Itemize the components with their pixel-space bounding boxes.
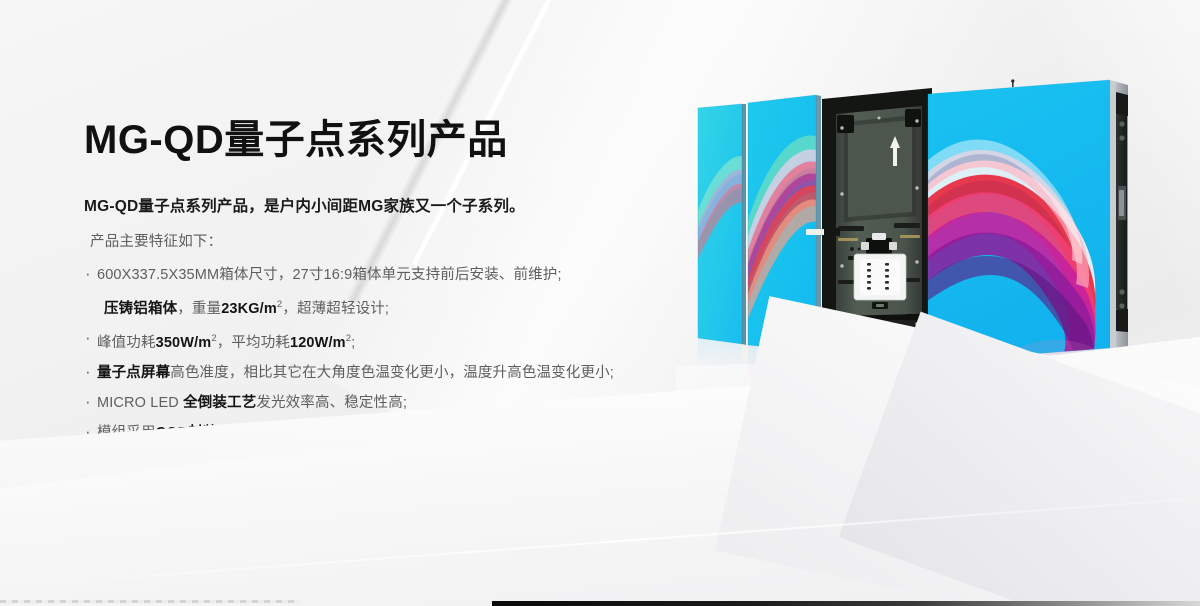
table-row: MG0093-QD0.93640x360 — [739, 450, 1024, 480]
features-lead: 产品主要特征如下： — [90, 230, 744, 251]
table-body: MG0093-QD0.93640x360MG0125-QD1.25480x270… — [739, 450, 1024, 540]
product-image — [676, 66, 1156, 396]
table-row: MG0125-QD1.25480x270 — [739, 480, 1024, 510]
bottom-dark-bar — [492, 601, 1200, 606]
page-root: MG-QD量子点系列产品 MG-QD量子点系列产品，是户内小间距MG家族又一个子… — [0, 0, 1200, 606]
table-cell-1: 1.25 — [834, 480, 929, 510]
table-cell-2: 480x270 — [929, 480, 1024, 510]
table-header-cell-0: 型号 — [739, 420, 834, 450]
bottom-dashed-strip — [0, 600, 300, 603]
feature-item-cob-packaging: 模组采用COB封装工艺，防潮、防尘、防磕碰等高防护等级IP65; — [84, 418, 744, 448]
feature-item-power: 峰值功耗350W/m2，平均功耗120W/m2; — [84, 324, 744, 358]
feature-item-quantum-dot-screen: 量子点屏幕高色准度，相比其它在大角度色温变化更小，温度升高色温变化更小; — [84, 358, 744, 388]
table-header-cell-2: 分辨率 — [929, 420, 1024, 450]
feature-item-cabinet-material: 压铸铝箱体，重量23KG/m2，超薄超轻设计; — [84, 290, 744, 324]
feature-list: 600X337.5X35MM箱体尺寸，27寸16:9箱体单元支持前后安装、前维护… — [84, 260, 744, 512]
feature-item-micro-led: MICRO LED 全倒装工艺发光效率高、稳定性高; — [84, 388, 744, 418]
table-header-row: 型号间距mm分辨率 — [739, 420, 1024, 450]
table-cell-1: 0.93 — [834, 450, 929, 480]
feature-item-viewing-angle: 可视角度160°; — [84, 478, 744, 513]
page-title: MG-QD量子点系列产品 — [84, 118, 744, 162]
feature-item-cabinet-size: 600X337.5X35MM箱体尺寸，27寸16:9箱体单元支持前后安装、前维护… — [84, 260, 744, 290]
table-cell-0: MG0125-QD — [739, 480, 834, 510]
text-column: MG-QD量子点系列产品 MG-QD量子点系列产品，是户内小间距MG家族又一个子… — [84, 118, 744, 512]
table-cell-2: 640x360 — [929, 450, 1024, 480]
page-subtitle: MG-QD量子点系列产品，是户内小间距MG家族又一个子系列。 — [84, 194, 744, 216]
table-cell-0: MG0093-QD — [739, 450, 834, 480]
table-header-cell-1: 间距mm — [834, 420, 929, 450]
feature-item-brightness: 校正后白平衡亮度600-800NITS; — [84, 448, 744, 478]
